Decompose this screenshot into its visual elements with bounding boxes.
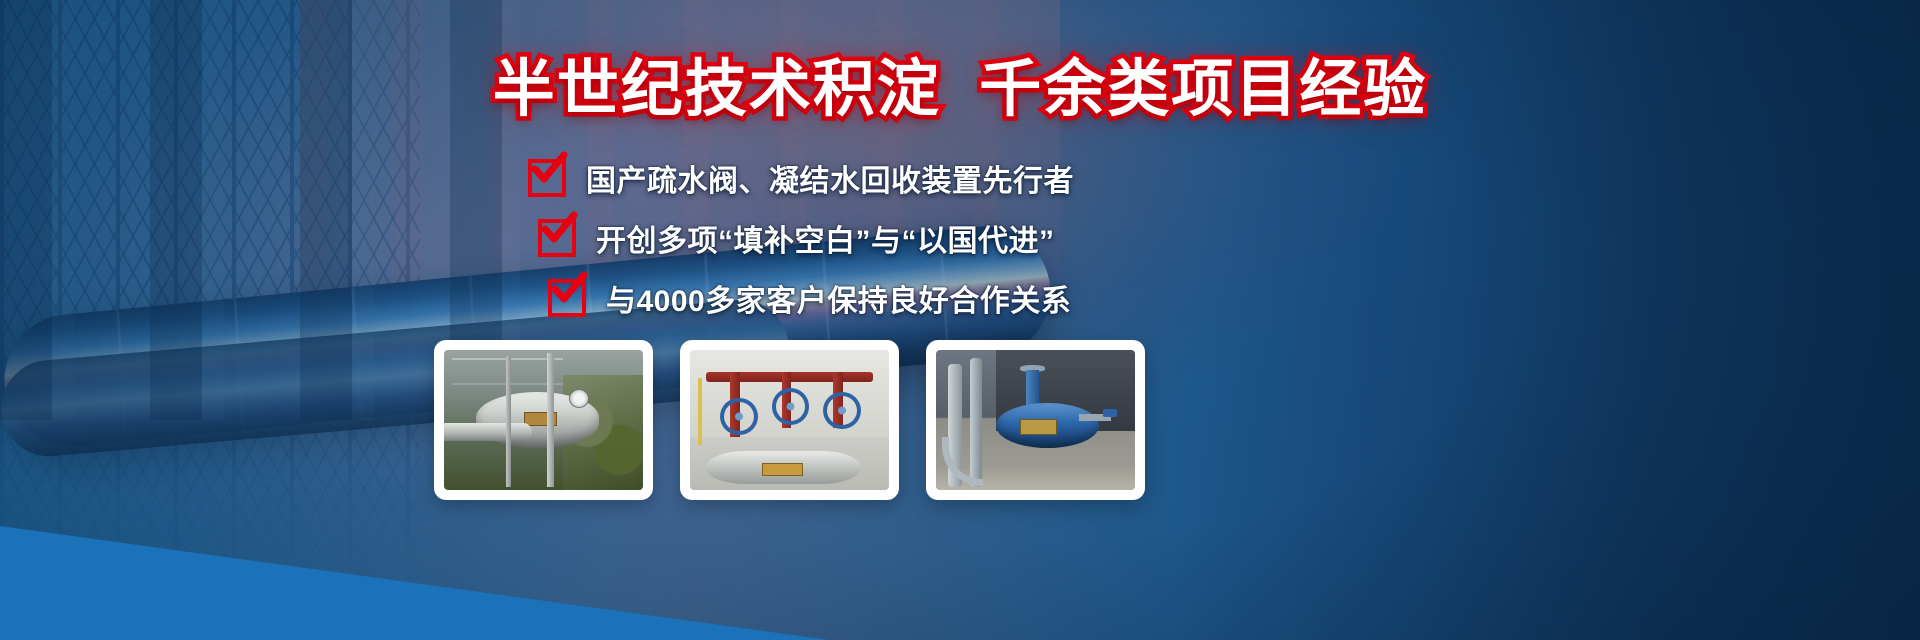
promo-banner: 半世纪技术积淀 千余类项目经验 国产疏水阀、凝结水回收装置先行者 开创多项“填补… [0,0,1920,640]
photo-card-3[interactable] [926,340,1145,500]
photo-red-valve-manifold [690,350,889,490]
bullet-item: 与4000多家客户保持良好合作关系 [548,270,1168,326]
bullet-item: 开创多项“填补空白”与“以国代进” [538,210,1168,266]
photo-card-1[interactable] [434,340,653,500]
bullet-label: 国产疏水阀、凝结水回收装置先行者 [586,156,1074,200]
check-box-icon [538,219,576,257]
photo-card-2[interactable] [680,340,899,500]
check-box-icon [528,159,566,197]
bullet-label: 与4000多家客户保持良好合作关系 [606,276,1071,320]
bullet-item: 国产疏水阀、凝结水回收装置先行者 [528,150,1168,206]
photo-card-gallery [434,340,1145,500]
feature-bullet-list: 国产疏水阀、凝结水回收装置先行者 开创多项“填补空白”与“以国代进” 与4000… [528,150,1168,330]
banner-content: 半世纪技术积淀 千余类项目经验 国产疏水阀、凝结水回收装置先行者 开创多项“填补… [0,0,1920,640]
bullet-label: 开创多项“填补空白”与“以国代进” [596,216,1055,260]
photo-blue-recovery-unit [936,350,1135,490]
check-box-icon [548,279,586,317]
photo-separator-vessel [444,350,643,490]
headline: 半世纪技术积淀 千余类项目经验 [0,38,1920,128]
